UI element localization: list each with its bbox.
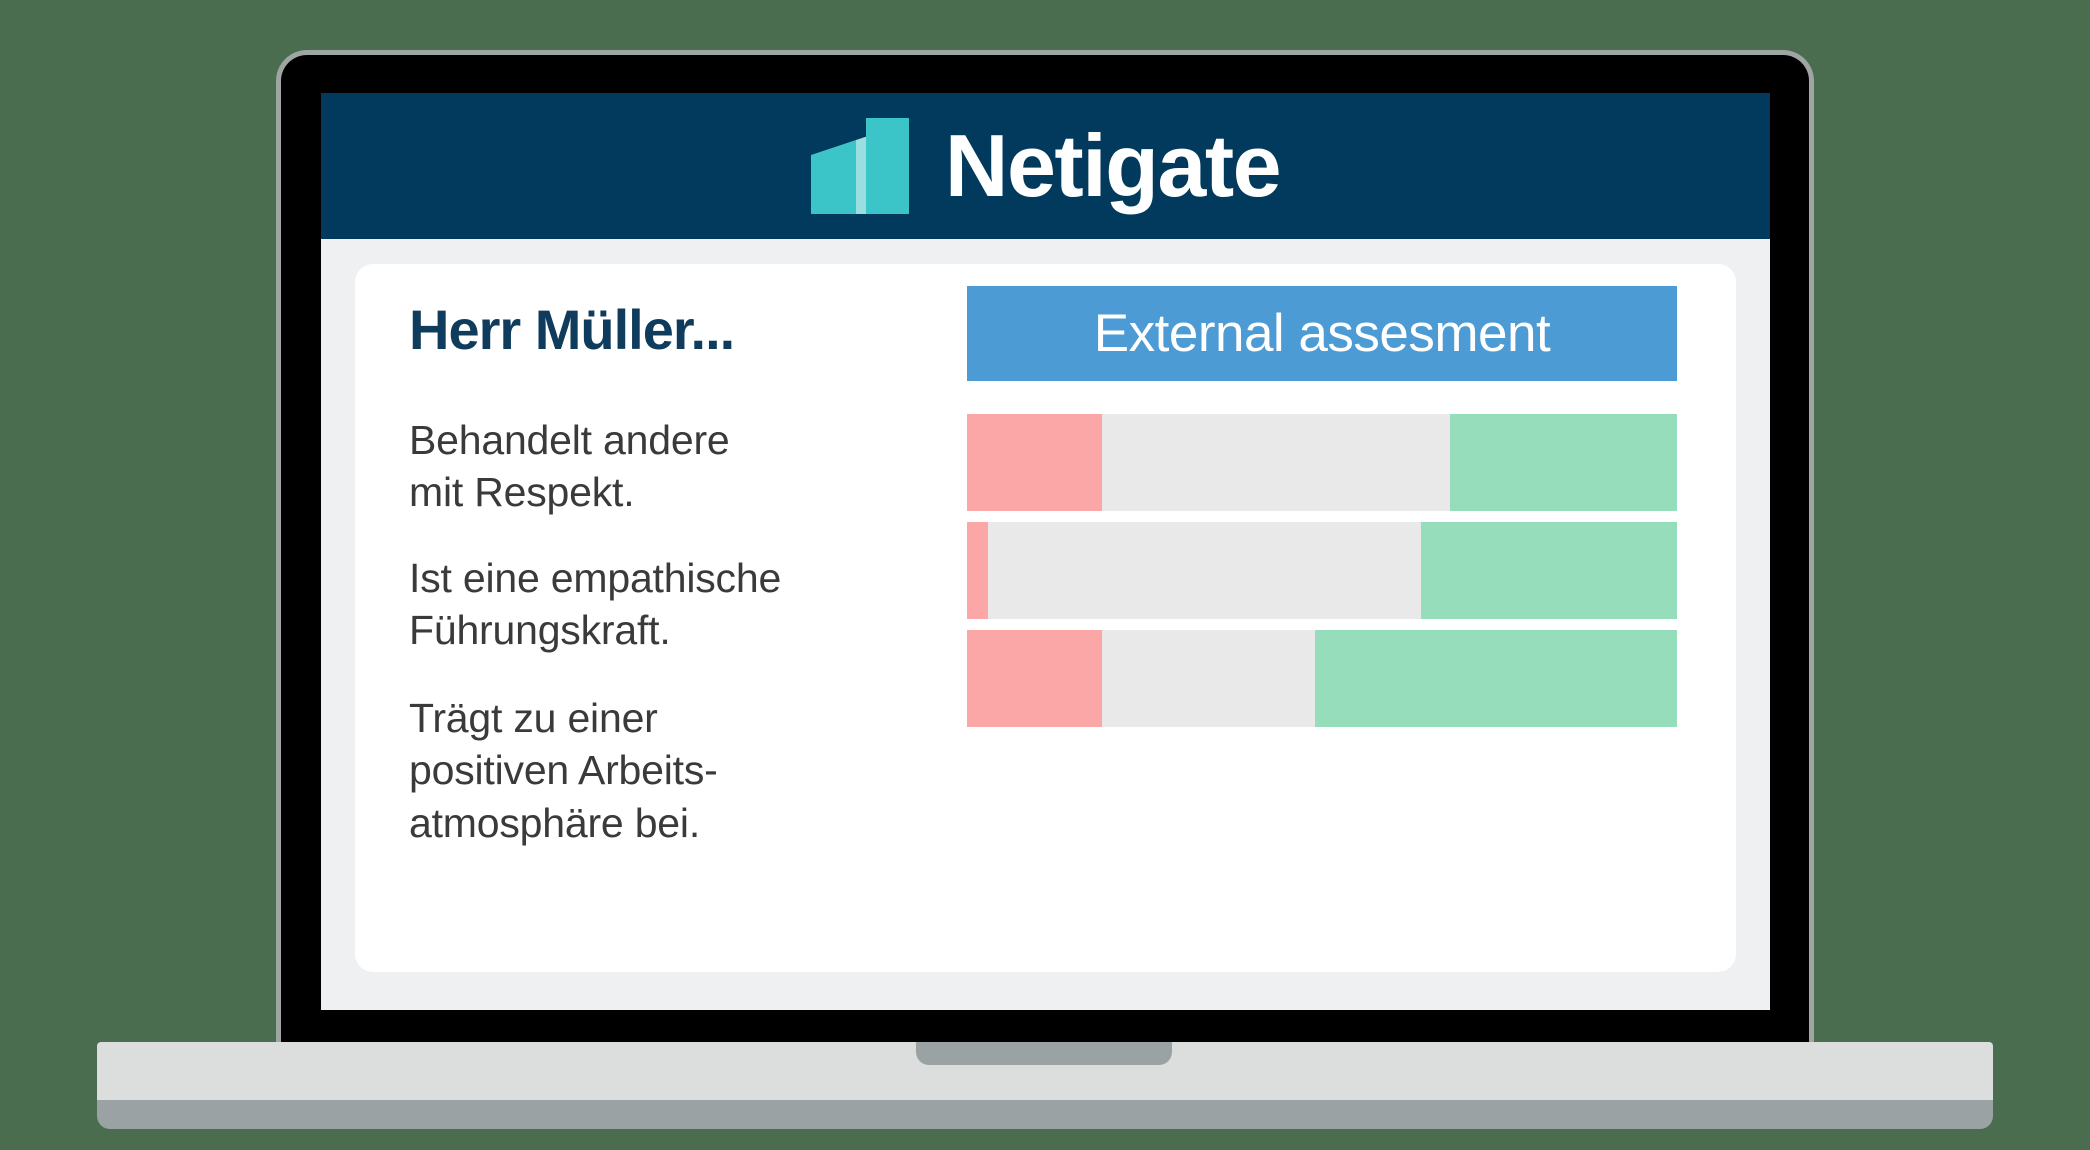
laptop-base-bottom xyxy=(97,1100,1993,1129)
card-grid: Herr Müller... Behandelt andere mit Resp… xyxy=(355,264,1736,972)
question-label-2: Ist eine empathische Führungskraft. xyxy=(409,552,781,657)
bar-segment-negative[interactable] xyxy=(967,630,1102,727)
bar-segment-negative[interactable] xyxy=(967,522,988,619)
question-label-3-line-2: positiven Arbeits- xyxy=(409,744,718,796)
bar-segment-positive[interactable] xyxy=(1315,630,1677,727)
content-card: Herr Müller... Behandelt andere mit Resp… xyxy=(355,264,1736,972)
chart-header: External assesment xyxy=(967,286,1677,381)
bar-segment-neutral[interactable] xyxy=(988,522,1421,619)
question-label-3-line-3: atmosphäre bei. xyxy=(409,797,718,849)
question-label-1-line-2: mit Respekt. xyxy=(409,466,730,518)
bar-segment-negative[interactable] xyxy=(967,414,1102,511)
question-label-2-line-1: Ist eine empathische xyxy=(409,552,781,604)
bar-segment-positive[interactable] xyxy=(1421,522,1677,619)
question-label-3: Trägt zu einer positiven Arbeits- atmosp… xyxy=(409,692,718,849)
netigate-n-logo-icon xyxy=(811,118,911,214)
brand-name: Netigate xyxy=(945,122,1280,210)
brand-header-bar: Netigate xyxy=(321,93,1770,239)
bar-segment-positive[interactable] xyxy=(1450,414,1677,511)
labels-column: Herr Müller... Behandelt andere mit Resp… xyxy=(409,264,969,972)
chart-column: External assesment xyxy=(967,264,1681,972)
stacked-bar-row-3[interactable] xyxy=(967,630,1677,727)
question-label-3-line-1: Trägt zu einer xyxy=(409,692,718,744)
question-label-1-line-1: Behandelt andere xyxy=(409,414,730,466)
bar-segment-neutral[interactable] xyxy=(1102,630,1315,727)
page-title: Herr Müller... xyxy=(409,301,734,360)
question-label-1: Behandelt andere mit Respekt. xyxy=(409,414,730,519)
screenshot-stage: Netigate Herr Müller... Behandelt andere… xyxy=(0,0,2090,1150)
stacked-bar-row-2[interactable] xyxy=(967,522,1677,619)
laptop-screen: Netigate Herr Müller... Behandelt andere… xyxy=(321,93,1770,1010)
chart-title: External assesment xyxy=(1094,307,1550,360)
laptop-base-notch xyxy=(916,1042,1172,1065)
bar-segment-neutral[interactable] xyxy=(1102,414,1450,511)
question-label-2-line-2: Führungskraft. xyxy=(409,604,781,656)
stacked-bar-row-1[interactable] xyxy=(967,414,1677,511)
